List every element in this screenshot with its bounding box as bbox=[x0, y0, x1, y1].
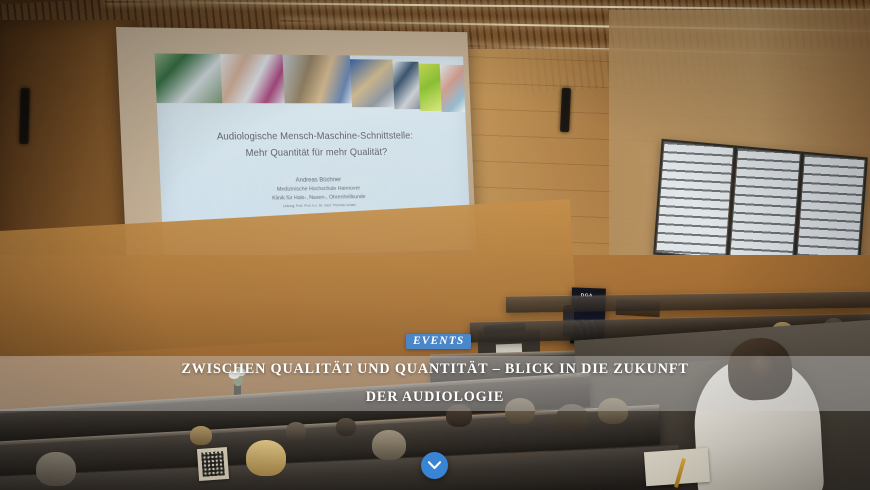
chevron-down-icon bbox=[428, 461, 441, 470]
category-badge-events[interactable]: EVENTS bbox=[406, 334, 471, 349]
scroll-down-button[interactable] bbox=[421, 452, 448, 479]
page-title: ZWISCHEN QUALITÄT UND QUANTITÄT – BLICK … bbox=[0, 359, 870, 408]
headline-line-1: ZWISCHEN QUALITÄT UND QUANTITÄT – BLICK … bbox=[0, 359, 870, 381]
hero-overlay: EVENTS ZWISCHEN QUALITÄT UND QUANTITÄT –… bbox=[0, 0, 870, 490]
headline-line-2: DER AUDIOLOGIE bbox=[0, 387, 870, 409]
hero-section: Audiologische Mensch-Maschine-Schnittste… bbox=[0, 0, 870, 490]
